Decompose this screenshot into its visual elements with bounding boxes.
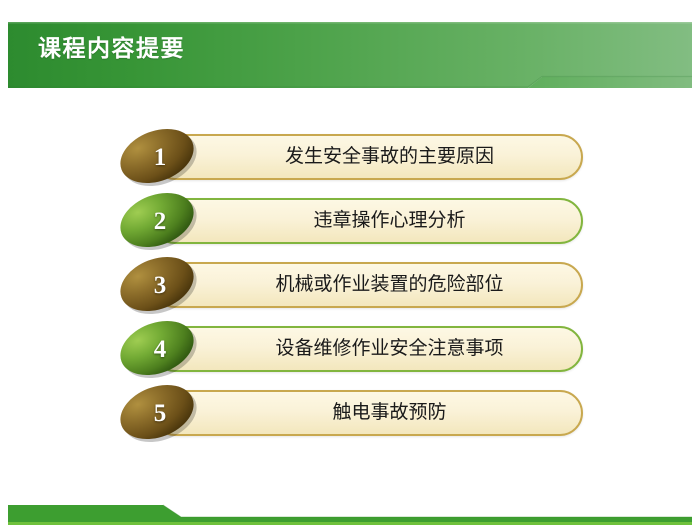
ellipse-shape bbox=[116, 383, 200, 443]
ellipse-shape bbox=[116, 255, 200, 315]
list-item[interactable]: 机械或作业装置的危险部位 3 bbox=[0, 254, 700, 316]
outline-number-badge[interactable]: 3 bbox=[116, 255, 200, 315]
list-item[interactable]: 发生安全事故的主要原因 1 bbox=[0, 126, 700, 188]
outline-item-label: 机械或作业装置的危险部位 bbox=[212, 264, 567, 306]
slide-canvas: 课程内容提要 发生安全事故的主要原因 bbox=[0, 0, 700, 525]
list-item[interactable]: 违章操作心理分析 2 bbox=[0, 190, 700, 252]
outline-item-label: 发生安全事故的主要原因 bbox=[212, 136, 567, 178]
outline-number-badge[interactable]: 2 bbox=[116, 191, 200, 251]
outline-bar[interactable]: 触电事故预防 bbox=[152, 390, 583, 436]
list-item[interactable]: 触电事故预防 5 bbox=[0, 382, 700, 444]
list-item[interactable]: 设备维修作业安全注意事项 4 bbox=[0, 318, 700, 380]
outline-bar[interactable]: 机械或作业装置的危险部位 bbox=[152, 262, 583, 308]
ellipse-shape bbox=[116, 127, 200, 187]
slide-footer bbox=[0, 480, 700, 525]
outline-bar[interactable]: 发生安全事故的主要原因 bbox=[152, 134, 583, 180]
outline-item-label: 违章操作心理分析 bbox=[212, 200, 567, 242]
content-outline-list: 发生安全事故的主要原因 1 bbox=[0, 0, 700, 525]
footer-band-shape bbox=[0, 480, 700, 525]
outline-item-label: 触电事故预防 bbox=[212, 392, 567, 434]
outline-bar[interactable]: 设备维修作业安全注意事项 bbox=[152, 326, 583, 372]
outline-bar[interactable]: 违章操作心理分析 bbox=[152, 198, 583, 244]
outline-number-badge[interactable]: 4 bbox=[116, 319, 200, 379]
ellipse-shape bbox=[116, 319, 200, 379]
ellipse-shape bbox=[116, 191, 200, 251]
outline-number-badge[interactable]: 1 bbox=[116, 127, 200, 187]
outline-number-badge[interactable]: 5 bbox=[116, 383, 200, 443]
outline-item-label: 设备维修作业安全注意事项 bbox=[212, 328, 567, 370]
